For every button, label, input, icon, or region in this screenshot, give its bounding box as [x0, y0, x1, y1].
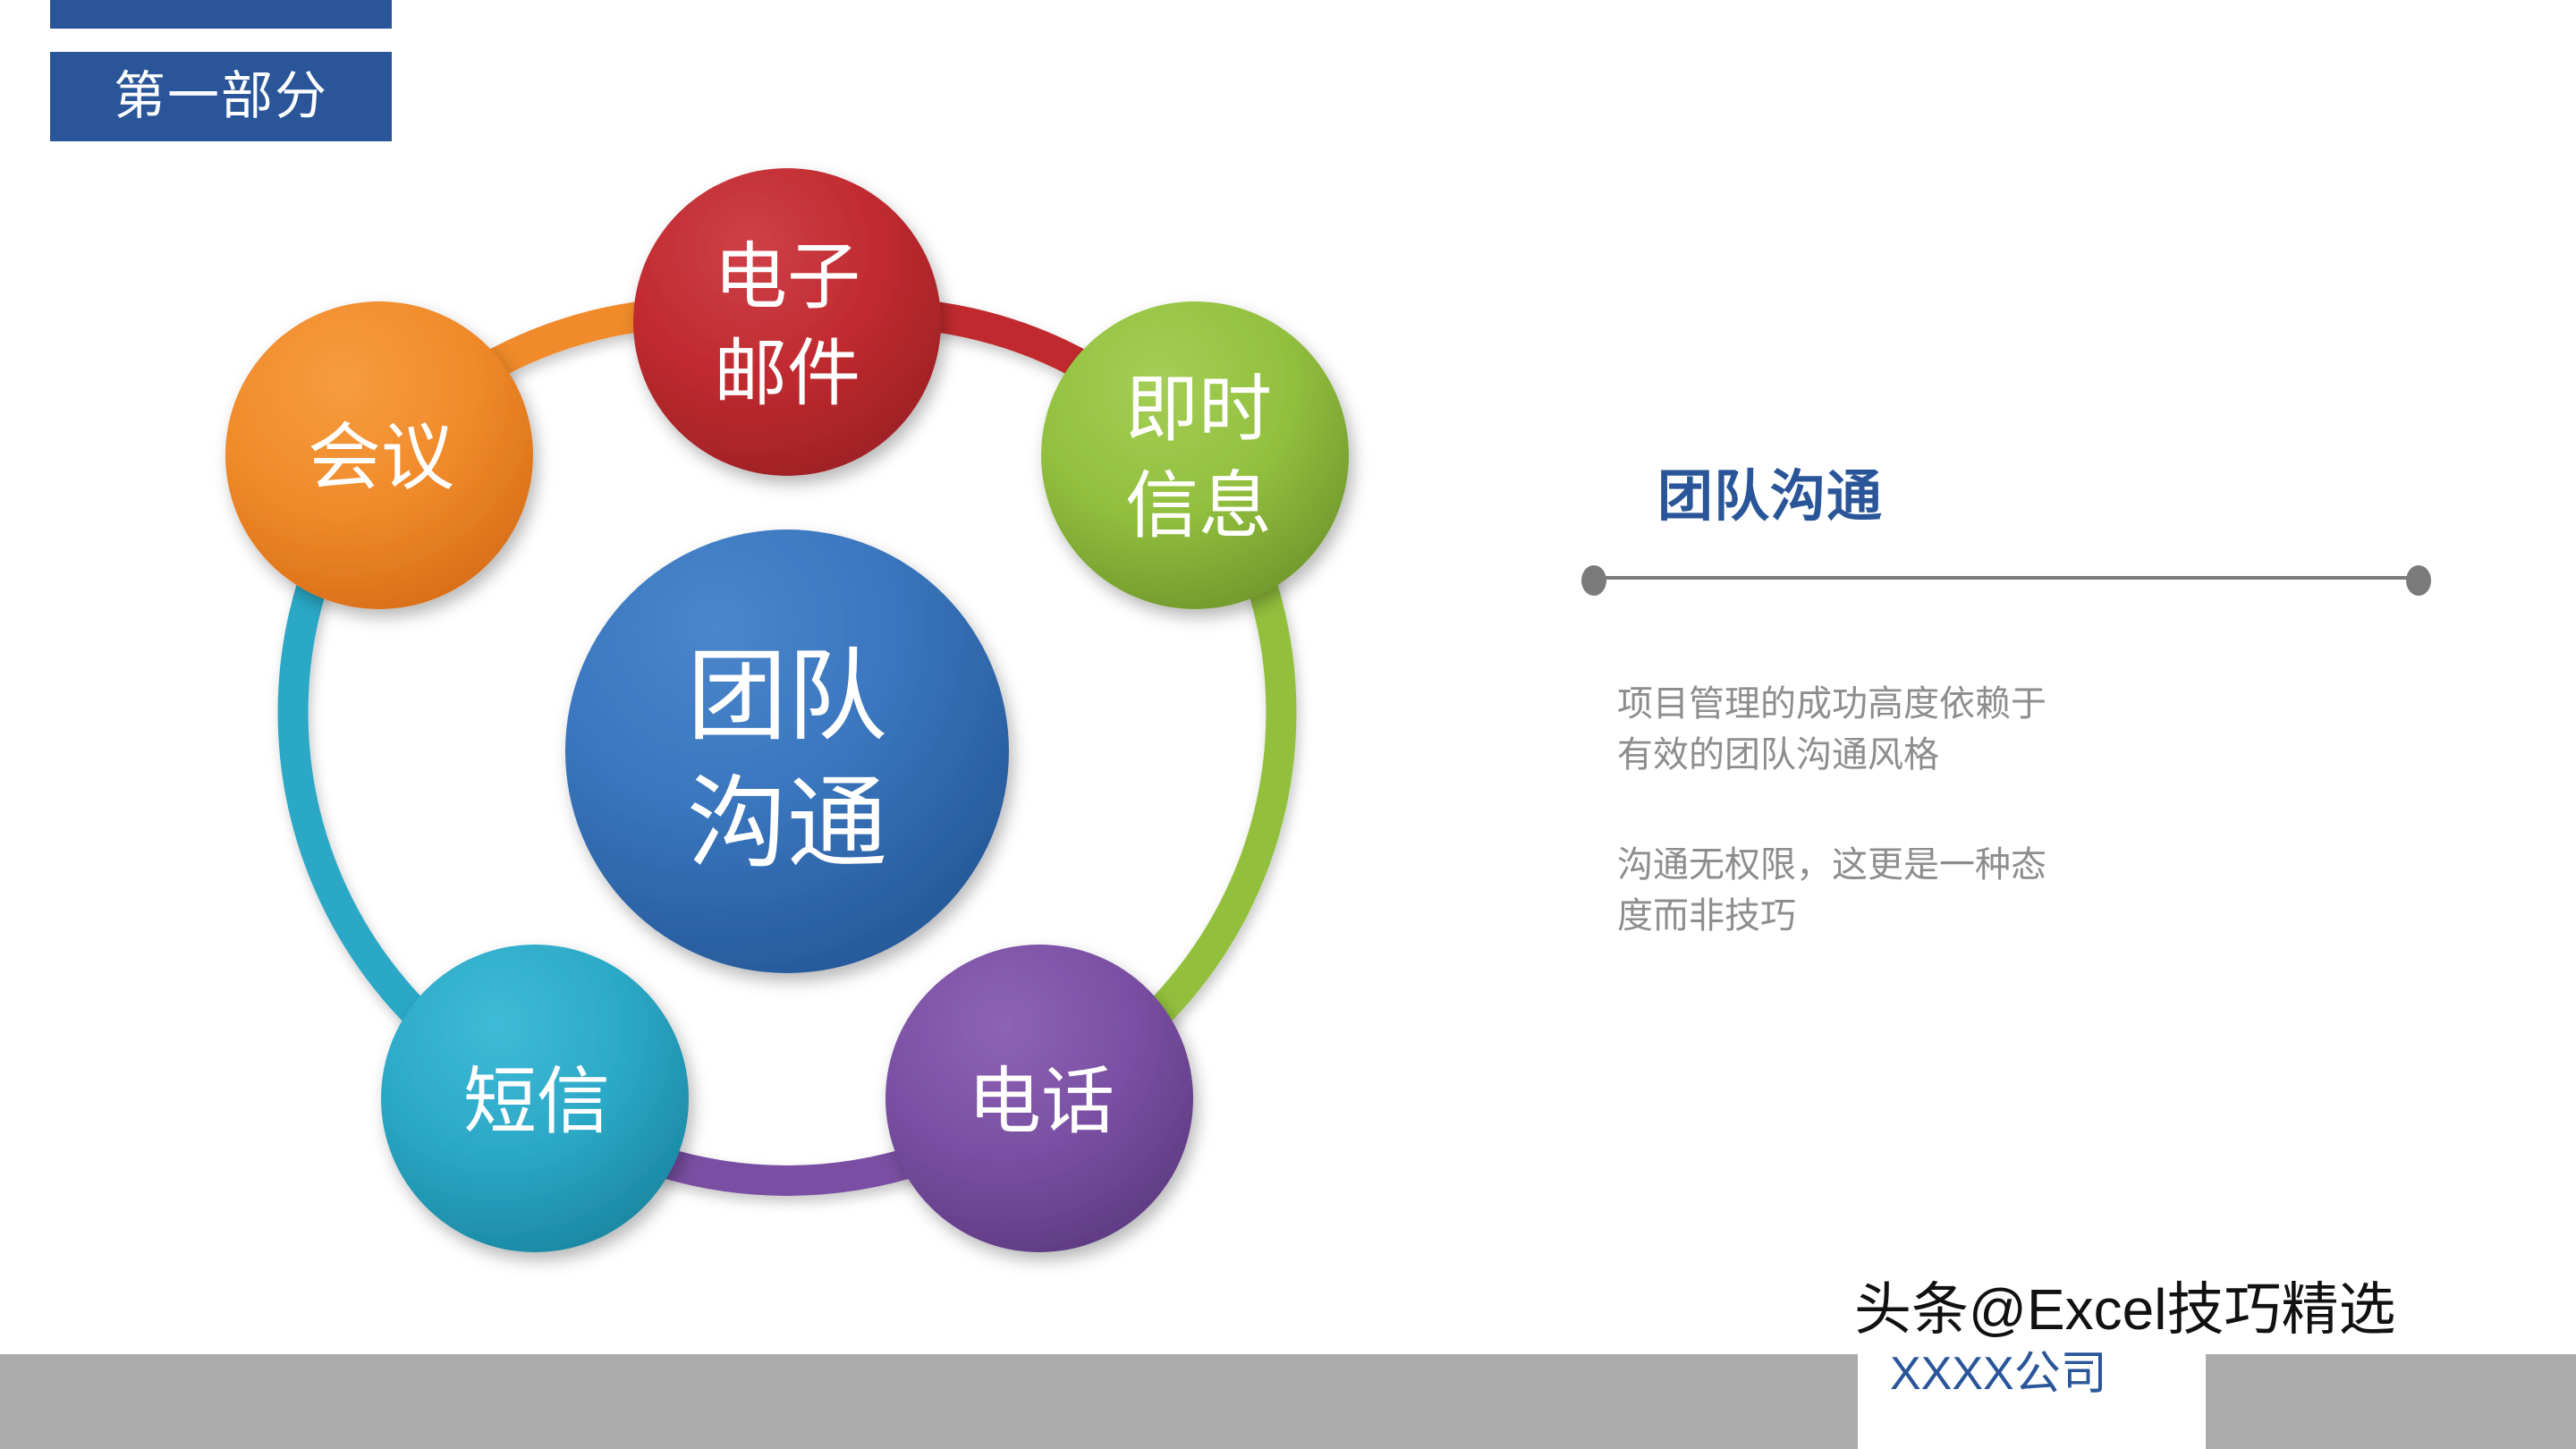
node-instant-message-label-line2: 信息	[1125, 466, 1272, 547]
hub-label-line1: 团队	[687, 642, 887, 753]
node-sms[interactable]: 短信	[381, 945, 689, 1252]
node-instant-message[interactable]: 即时 信息	[1041, 301, 1349, 609]
section-accent-bar	[50, 0, 392, 29]
node-hub-team-communication[interactable]: 团队 沟通	[565, 530, 1009, 973]
panel-body-text: 项目管理的成功高度依赖于 有效的团队沟通风格 沟通无权限，这更是一种态 度而非技…	[1617, 679, 2431, 941]
node-instant-message-label-line1: 即时	[1125, 369, 1272, 451]
node-email-label-line1: 电子	[714, 237, 860, 318]
node-meeting[interactable]: 会议	[225, 301, 533, 609]
node-sms-label: 短信	[463, 1062, 610, 1143]
divider-dot-left	[1581, 565, 1606, 596]
footer-bar-left	[0, 1354, 1858, 1449]
section-badge-label: 第一部分	[114, 71, 328, 123]
right-content-panel: 团队沟通 项目管理的成功高度依赖于 有效的团队沟通风格 沟通无权限，这更是一种态…	[1581, 465, 2431, 941]
body-paragraph-1: 项目管理的成功高度依赖于 有效的团队沟通风格	[1617, 679, 2190, 781]
node-phone[interactable]: 电话	[885, 945, 1193, 1252]
title-divider	[1581, 563, 2431, 593]
node-email-circle[interactable]	[633, 168, 941, 476]
node-instant-message-circle[interactable]	[1041, 301, 1349, 609]
divider-rule	[1594, 576, 2419, 580]
node-phone-label: 电话	[968, 1062, 1114, 1143]
node-meeting-label: 会议	[308, 418, 454, 499]
watermark-text: 头条@Excel技巧精选	[1854, 1281, 2395, 1338]
page-title: 团队沟通	[1657, 465, 2431, 529]
node-email-label-line2: 邮件	[714, 334, 860, 415]
footer-bar-right	[2206, 1354, 2576, 1449]
hub-label-line2: 沟通	[687, 769, 887, 880]
node-email[interactable]: 电子 邮件	[633, 168, 941, 476]
divider-dot-right	[2406, 565, 2431, 596]
team-communication-cycle-diagram: 电子 邮件 即时 信息 电话 短信 会议 团队 沟通	[134, 125, 1458, 1360]
body-paragraph-2: 沟通无权限，这更是一种态 度而非技巧	[1617, 840, 2190, 942]
footer-company-name: XXXX公司	[1890, 1351, 2107, 1397]
